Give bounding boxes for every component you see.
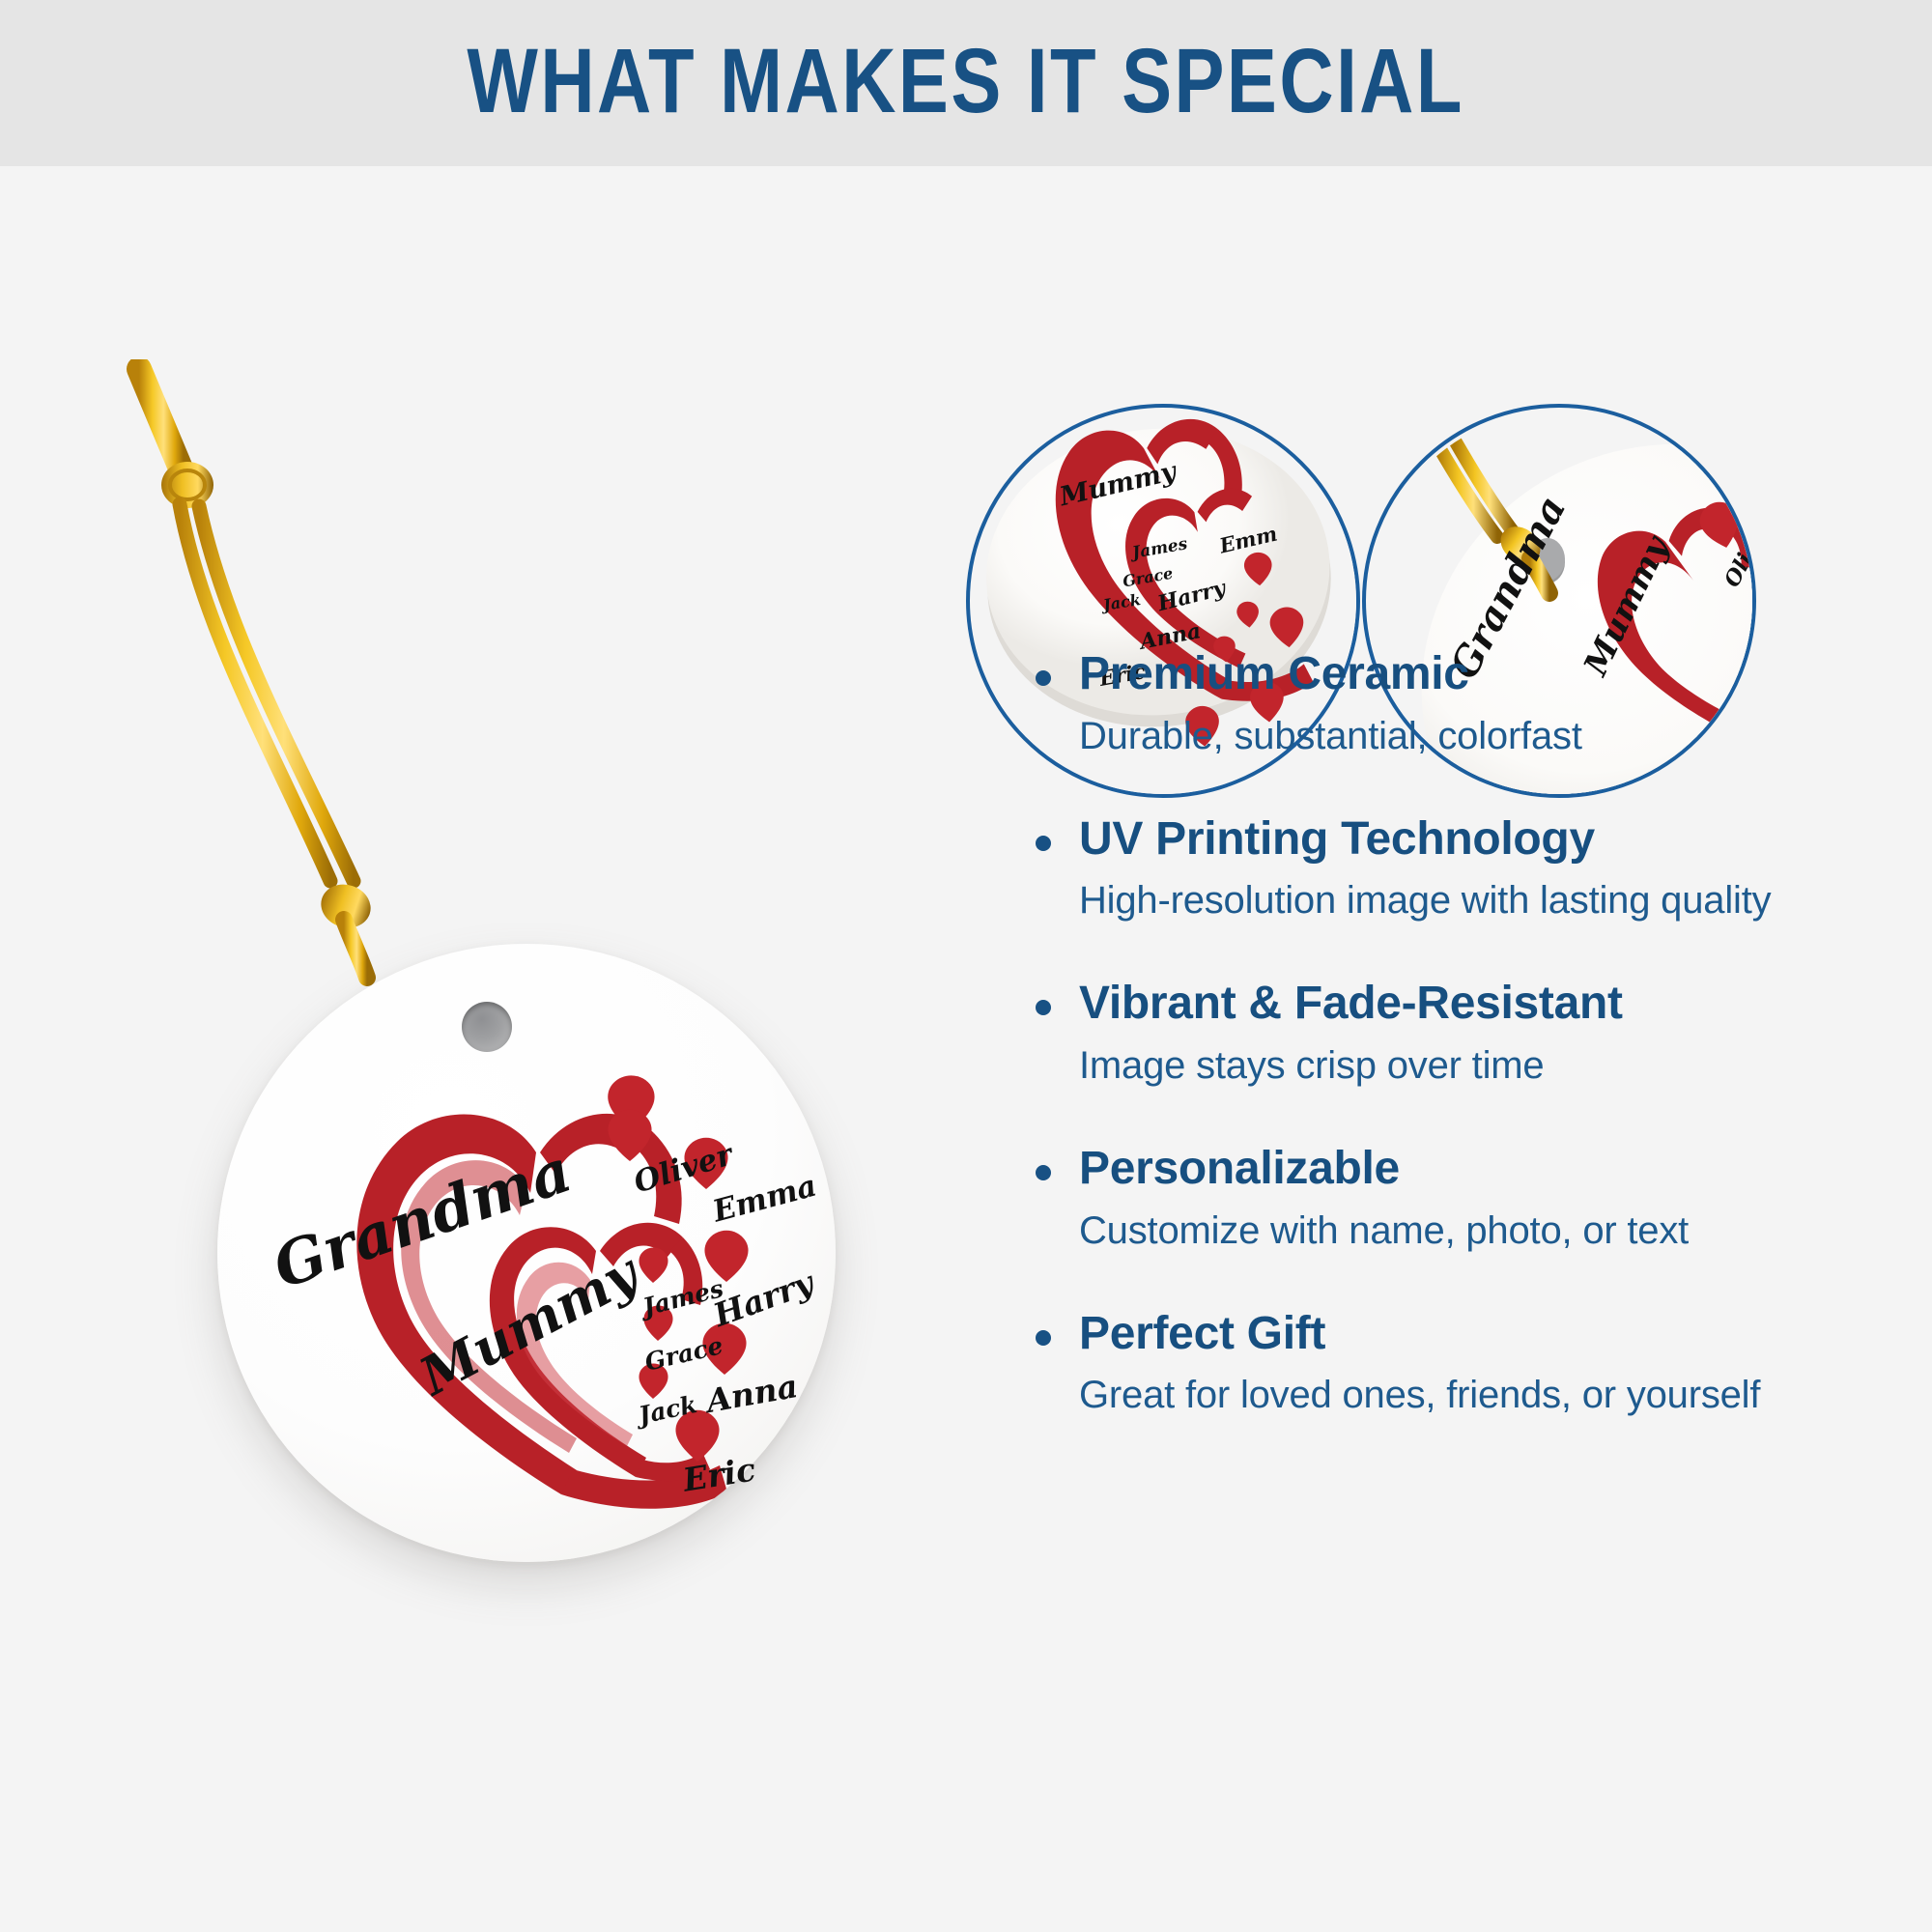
feature-title: Premium Ceramic (1079, 649, 1922, 699)
feature-title: Perfect Gift (1079, 1309, 1922, 1359)
page-title: WHAT MAKES IT SPECIAL (468, 36, 1465, 128)
bullet-icon (1036, 1000, 1051, 1015)
feature-description: Customize with name, photo, or text (1079, 1209, 1922, 1253)
feature-title: Personalizable (1079, 1144, 1922, 1194)
header-band: WHAT MAKES IT SPECIAL (0, 0, 1932, 166)
feature-item-premium-ceramic: Premium Ceramic Durable, substantial, co… (995, 649, 1922, 758)
feature-description: Great for loved ones, friends, or yourse… (1079, 1374, 1922, 1417)
bullet-icon (1036, 836, 1051, 851)
feature-item-uv-printing-technology: UV Printing Technology High-resolution i… (995, 814, 1922, 923)
feature-item-vibrant-fade-resistant: Vibrant & Fade-Resistant Image stays cri… (995, 979, 1922, 1088)
content-stage: Grandma Mummy Oliver Emma James Harry Gr… (0, 166, 1932, 1932)
main-product-image[interactable]: Grandma Mummy Oliver Emma James Harry Gr… (126, 359, 889, 1596)
bullet-icon (1036, 670, 1051, 686)
hanging-cord (126, 359, 609, 987)
feature-description: High-resolution image with lasting quali… (1079, 879, 1922, 923)
feature-list: Premium Ceramic Durable, substantial, co… (995, 649, 1922, 1417)
feature-item-perfect-gift: Perfect Gift Great for loved ones, frien… (995, 1309, 1922, 1418)
feature-title: Vibrant & Fade-Resistant (1079, 979, 1922, 1029)
feature-item-personalizable: Personalizable Customize with name, phot… (995, 1144, 1922, 1253)
feature-title: UV Printing Technology (1079, 814, 1922, 865)
ornament-disc[interactable]: Grandma Mummy Oliver Emma James Harry Gr… (217, 944, 836, 1562)
feature-description: Image stays crisp over time (1079, 1044, 1922, 1088)
bullet-icon (1036, 1330, 1051, 1346)
bullet-icon (1036, 1165, 1051, 1180)
feature-description: Durable, substantial, colorfast (1079, 715, 1922, 758)
